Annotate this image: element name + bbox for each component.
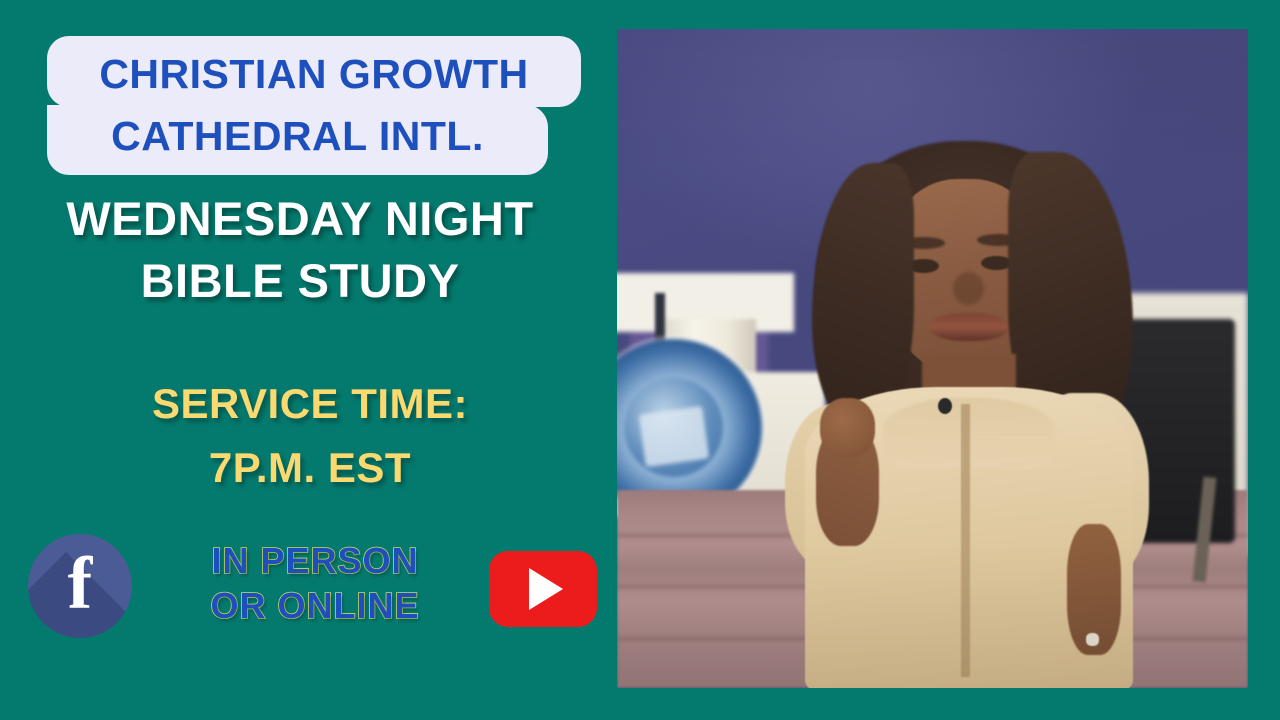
event-subtitle-line-2: BIBLE STUDY	[0, 250, 600, 312]
hair-left	[812, 163, 914, 426]
speaker-photo	[617, 29, 1248, 688]
church-name-line-1: CHRISTIAN GROWTH	[47, 36, 581, 107]
service-time-value: 7P.M. EST	[0, 436, 620, 500]
attendance-line-1: IN PERSON	[150, 538, 480, 583]
facebook-f-glyph: f	[28, 534, 132, 638]
service-time-label: SERVICE TIME:	[0, 372, 620, 436]
raised-hand	[820, 398, 875, 458]
flyer-text-column: CHRISTIAN GROWTH CATHEDRAL INTL. WEDNESD…	[0, 0, 617, 720]
lapel-microphone	[938, 398, 952, 414]
youtube-icon[interactable]	[489, 551, 597, 627]
facebook-icon[interactable]: f	[28, 534, 132, 638]
dress-placket	[961, 404, 970, 677]
church-name-line-2: CATHEDRAL INTL.	[47, 105, 548, 175]
bible-study-flyer: CHRISTIAN GROWTH CATHEDRAL INTL. WEDNESD…	[0, 0, 1280, 720]
speaker-figure	[781, 141, 1172, 688]
event-subtitle: WEDNESDAY NIGHT BIBLE STUDY	[0, 188, 600, 312]
church-name-title: CHRISTIAN GROWTH CATHEDRAL INTL.	[47, 36, 581, 175]
youtube-play-triangle-icon	[529, 568, 563, 610]
attendance-text: IN PERSON OR ONLINE	[150, 538, 480, 628]
church-seal-globe-icon	[639, 406, 709, 468]
photo-scene	[617, 29, 1248, 688]
service-time-block: SERVICE TIME: 7P.M. EST	[0, 372, 620, 500]
mouth	[930, 313, 1008, 340]
event-subtitle-line-1: WEDNESDAY NIGHT	[0, 188, 600, 250]
attendance-line-2: OR ONLINE	[150, 583, 480, 628]
